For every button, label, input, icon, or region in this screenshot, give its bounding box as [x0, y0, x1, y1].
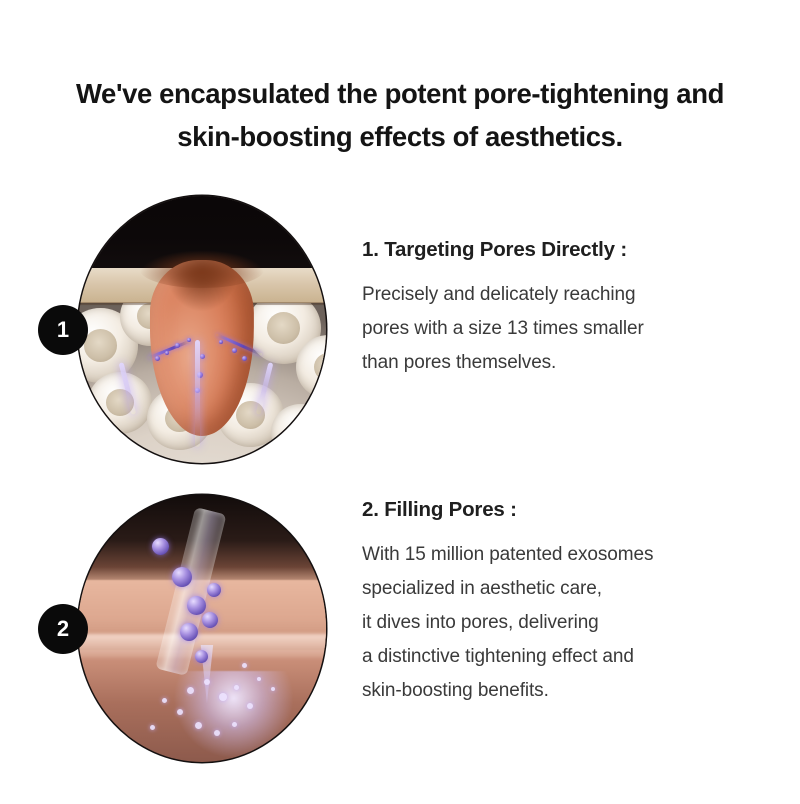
- exosome-spray: [172, 671, 306, 762]
- page-headline: We've encapsulated the potent pore-tight…: [0, 72, 800, 158]
- step-2-media: 2: [78, 495, 326, 762]
- step-1-body-line: than pores themselves.: [362, 346, 762, 380]
- exosome-dot: [232, 348, 237, 353]
- step-2-body-line: With 15 million patented exosomes: [362, 538, 762, 572]
- pore-targeting-illustration: [78, 196, 326, 463]
- spray-particle: [257, 677, 261, 681]
- step-1-badge-number: 1: [57, 319, 69, 341]
- step-1-text: 1. Targeting Pores Directly : Precisely …: [362, 238, 762, 380]
- step-2-body-line: skin-boosting benefits.: [362, 674, 762, 708]
- spray-particle: [242, 663, 247, 668]
- headline-line-2: skin-boosting effects of aesthetics.: [0, 115, 800, 158]
- exosome-bead: [152, 538, 169, 555]
- spray-particle: [150, 725, 155, 730]
- pore-ring: [88, 372, 152, 433]
- step-2-text: 2. Filling Pores : With 15 million paten…: [362, 498, 762, 708]
- exosome-dot: [165, 351, 169, 355]
- spray-particle: [177, 709, 183, 715]
- step-2-body-line: specialized in aesthetic care,: [362, 572, 762, 606]
- step-2-badge-number: 2: [57, 618, 69, 640]
- step-2-body-line: it dives into pores, delivering: [362, 606, 762, 640]
- spray-particle: [219, 693, 227, 701]
- step-2-body: With 15 million patented exosomes specia…: [362, 538, 762, 708]
- step-1-title: 1. Targeting Pores Directly :: [362, 238, 762, 262]
- step-1-badge: 1: [38, 305, 88, 355]
- pore-filling-illustration: [78, 495, 326, 762]
- step-1-body-line: Precisely and delicately reaching: [362, 278, 762, 312]
- step-2-badge: 2: [38, 604, 88, 654]
- pore-ring: [271, 404, 326, 460]
- exosome-dot: [175, 343, 180, 348]
- spray-particle: [195, 722, 202, 729]
- step-2-section: 2 2. Filling Pores : With 15 million pat…: [0, 495, 800, 765]
- step-1-body-line: pores with a size 13 times smaller: [362, 312, 762, 346]
- exosome-bead: [180, 623, 198, 641]
- exosome-dot: [242, 356, 247, 361]
- spray-particle: [234, 685, 239, 690]
- step-1-body: Precisely and delicately reaching pores …: [362, 278, 762, 380]
- spray-particle: [232, 722, 237, 727]
- exosome-dot: [200, 354, 205, 359]
- spray-particle: [247, 703, 253, 709]
- exosome-dot: [187, 338, 191, 342]
- step-2-body-line: a distinctive tightening effect and: [362, 640, 762, 674]
- step-2-title: 2. Filling Pores :: [362, 498, 762, 522]
- exosome-bead: [207, 583, 221, 597]
- exosome-bead: [195, 650, 208, 663]
- step-1-media: 1: [78, 196, 326, 463]
- light-beam: [195, 340, 200, 447]
- headline-line-1: We've encapsulated the potent pore-tight…: [0, 72, 800, 115]
- step-1-section: 1 1. Targeting Pores Directly : Precisel…: [0, 196, 800, 466]
